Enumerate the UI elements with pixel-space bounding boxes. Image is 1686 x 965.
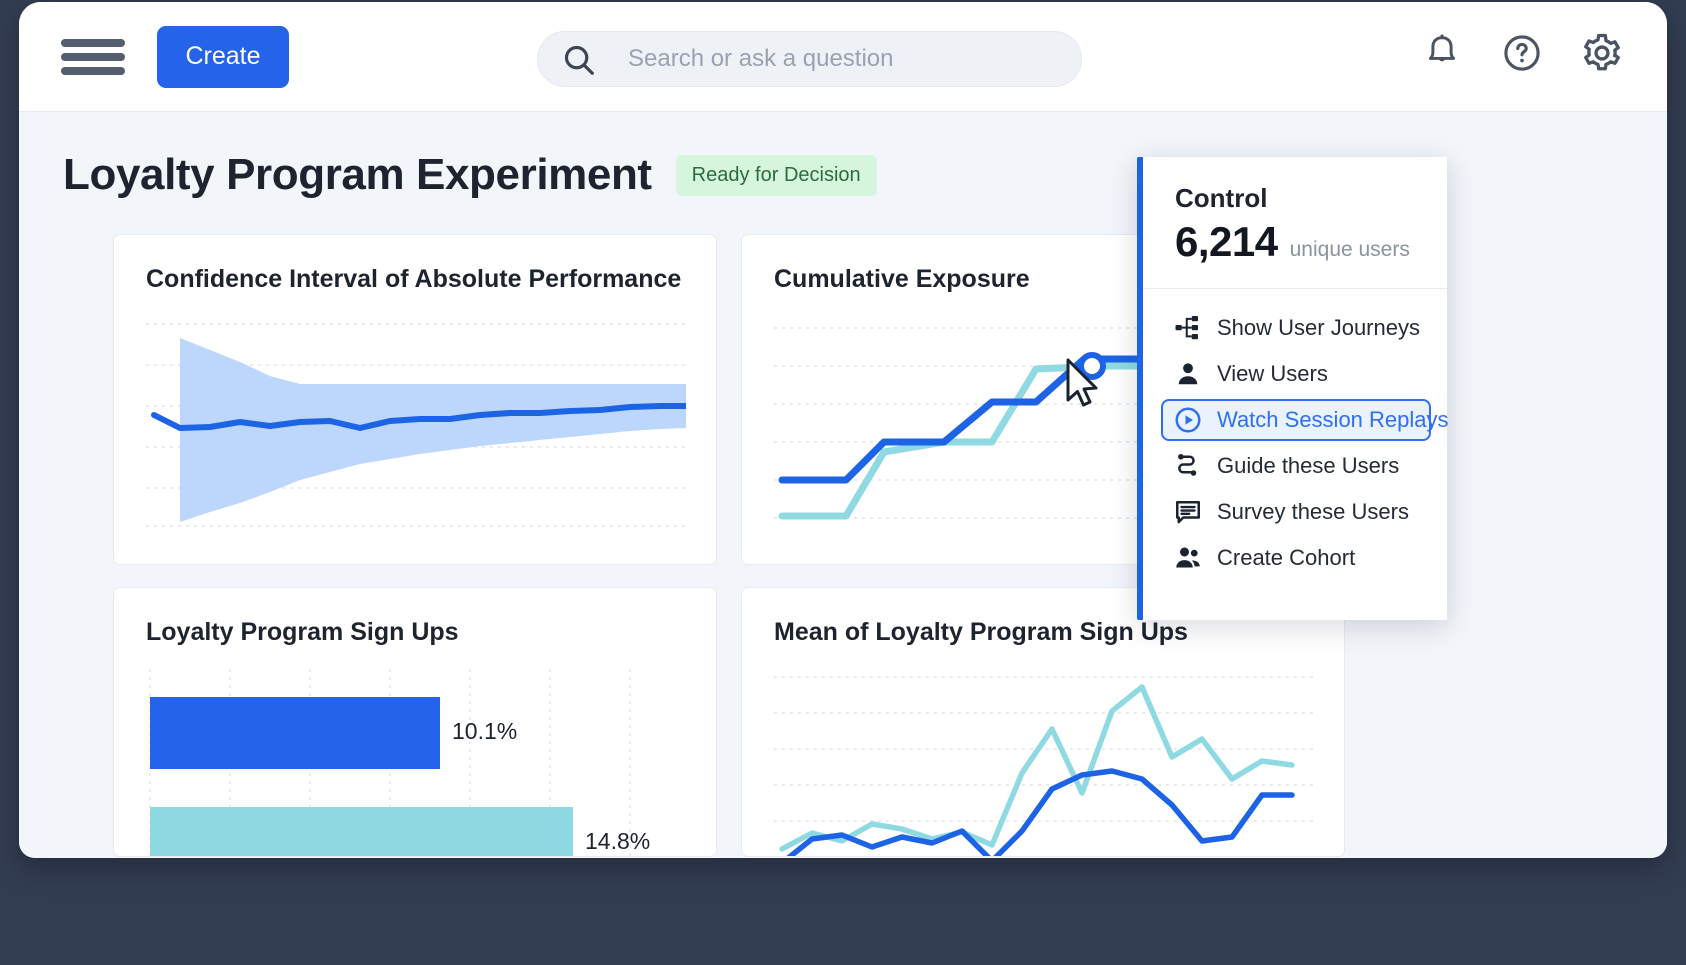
unique-users-unit: unique users bbox=[1290, 238, 1410, 262]
screen: Create Search or ask a question bbox=[0, 0, 1686, 965]
popup-metric: 6,214 unique users bbox=[1175, 218, 1417, 266]
page-title: Loyalty Program Experiment bbox=[63, 150, 652, 200]
menu-item-label: Watch Session Replays bbox=[1217, 407, 1449, 433]
card-title: Loyalty Program Sign Ups bbox=[146, 618, 684, 647]
person-icon bbox=[1173, 359, 1203, 389]
chart-svg bbox=[774, 669, 1314, 857]
app-window: Create Search or ask a question bbox=[19, 2, 1667, 858]
popup-variant-name: Control bbox=[1175, 183, 1417, 214]
hamburger-line bbox=[61, 39, 125, 47]
help-circle-icon[interactable] bbox=[1501, 32, 1543, 74]
create-button[interactable]: Create bbox=[157, 26, 289, 88]
card-mean-loyalty-signups[interactable]: Mean of Loyalty Program Sign Ups bbox=[741, 587, 1345, 857]
gear-icon[interactable] bbox=[1581, 32, 1623, 74]
card-confidence-interval[interactable]: Confidence Interval of Absolute Performa… bbox=[113, 234, 717, 565]
user-journeys-icon bbox=[1173, 313, 1203, 343]
ci-band bbox=[180, 338, 686, 522]
menu-item-label: Create Cohort bbox=[1217, 545, 1355, 571]
search-placeholder-text: Search or ask a question bbox=[628, 45, 894, 73]
control-line bbox=[782, 687, 1292, 849]
top-navigation-bar: Create Search or ask a question bbox=[19, 2, 1667, 112]
chart-data-point-marker[interactable] bbox=[1071, 345, 1113, 387]
people-group-icon bbox=[1173, 543, 1203, 573]
variant-actions-popup: Control 6,214 unique users Show User Jou… bbox=[1137, 157, 1447, 620]
menu-item-create-cohort[interactable]: Create Cohort bbox=[1161, 537, 1431, 579]
confidence-interval-chart bbox=[146, 316, 684, 536]
bar-value-label-0: 10.1% bbox=[452, 718, 517, 744]
chart-svg bbox=[146, 316, 686, 531]
gridlines bbox=[774, 677, 1314, 857]
search-input[interactable]: Search or ask a question bbox=[537, 31, 1082, 87]
play-circle-icon bbox=[1173, 405, 1203, 435]
menu-item-label: Guide these Users bbox=[1217, 453, 1399, 479]
status-badge: Ready for Decision bbox=[676, 155, 877, 196]
hamburger-menu-icon[interactable] bbox=[61, 35, 125, 79]
hamburger-line bbox=[61, 53, 125, 61]
variant-line bbox=[782, 771, 1292, 857]
hamburger-line bbox=[61, 67, 125, 75]
topbar-icon-group bbox=[1421, 32, 1623, 74]
menu-item-label: View Users bbox=[1217, 361, 1328, 387]
guide-path-icon bbox=[1173, 451, 1203, 481]
card-loyalty-signups[interactable]: Loyalty Program Sign Ups bbox=[113, 587, 717, 857]
unique-users-count: 6,214 bbox=[1175, 218, 1278, 266]
card-title: Confidence Interval of Absolute Performa… bbox=[146, 265, 684, 294]
survey-chat-icon bbox=[1173, 497, 1203, 527]
menu-item-guide-these-users[interactable]: Guide these Users bbox=[1161, 445, 1431, 487]
menu-item-view-users[interactable]: View Users bbox=[1161, 353, 1431, 395]
menu-item-label: Survey these Users bbox=[1217, 499, 1409, 525]
bar-control bbox=[150, 807, 573, 857]
loyalty-signups-bar-chart: 10.1% 14.8% bbox=[146, 669, 684, 857]
popup-action-menu: Show User Journeys View Users Watch Sess… bbox=[1143, 289, 1447, 579]
bar-variant bbox=[150, 697, 440, 769]
card-row-2: Loyalty Program Sign Ups bbox=[113, 587, 1593, 857]
search-icon bbox=[560, 41, 598, 79]
bell-icon[interactable] bbox=[1421, 32, 1463, 74]
chart-svg: 10.1% 14.8% bbox=[146, 669, 686, 857]
bar-value-label-1: 14.8% bbox=[585, 828, 650, 854]
menu-item-survey-these-users[interactable]: Survey these Users bbox=[1161, 491, 1431, 533]
menu-item-show-user-journeys[interactable]: Show User Journeys bbox=[1161, 307, 1431, 349]
popup-header: Control 6,214 unique users bbox=[1143, 157, 1447, 289]
mean-signups-line-chart bbox=[774, 669, 1312, 857]
card-title: Mean of Loyalty Program Sign Ups bbox=[774, 618, 1312, 647]
menu-item-watch-session-replays[interactable]: Watch Session Replays bbox=[1161, 399, 1431, 441]
menu-item-label: Show User Journeys bbox=[1217, 315, 1420, 341]
